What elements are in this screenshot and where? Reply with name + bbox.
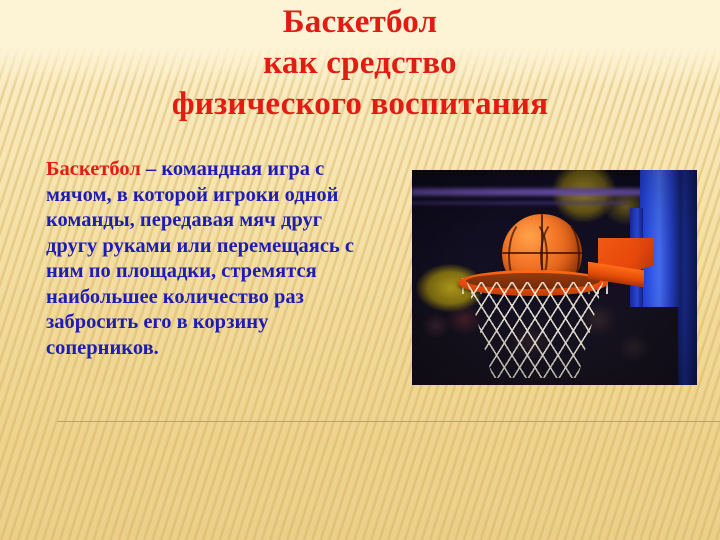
body-paragraph: Баскетбол – командная игра с мячом, в ко… — [46, 157, 356, 361]
horizontal-divider — [57, 421, 720, 422]
title-line-3: физического воспитания — [0, 84, 720, 125]
presentation-slide: Баскетбол как средство физического воспи… — [0, 0, 720, 540]
body-lead-word: Баскетбол — [46, 158, 141, 180]
slide-title: Баскетбол как средство физического воспи… — [0, 2, 720, 125]
photo-vignette — [412, 170, 697, 385]
title-line-1: Баскетбол — [0, 2, 720, 43]
body-rest-text: – командная игра с мячом, в которой игро… — [46, 158, 354, 359]
title-line-2: как средство — [0, 43, 720, 84]
slide-body: Баскетбол – командная игра с мячом, в ко… — [46, 157, 356, 361]
basketball-hoop-photo — [412, 170, 697, 385]
